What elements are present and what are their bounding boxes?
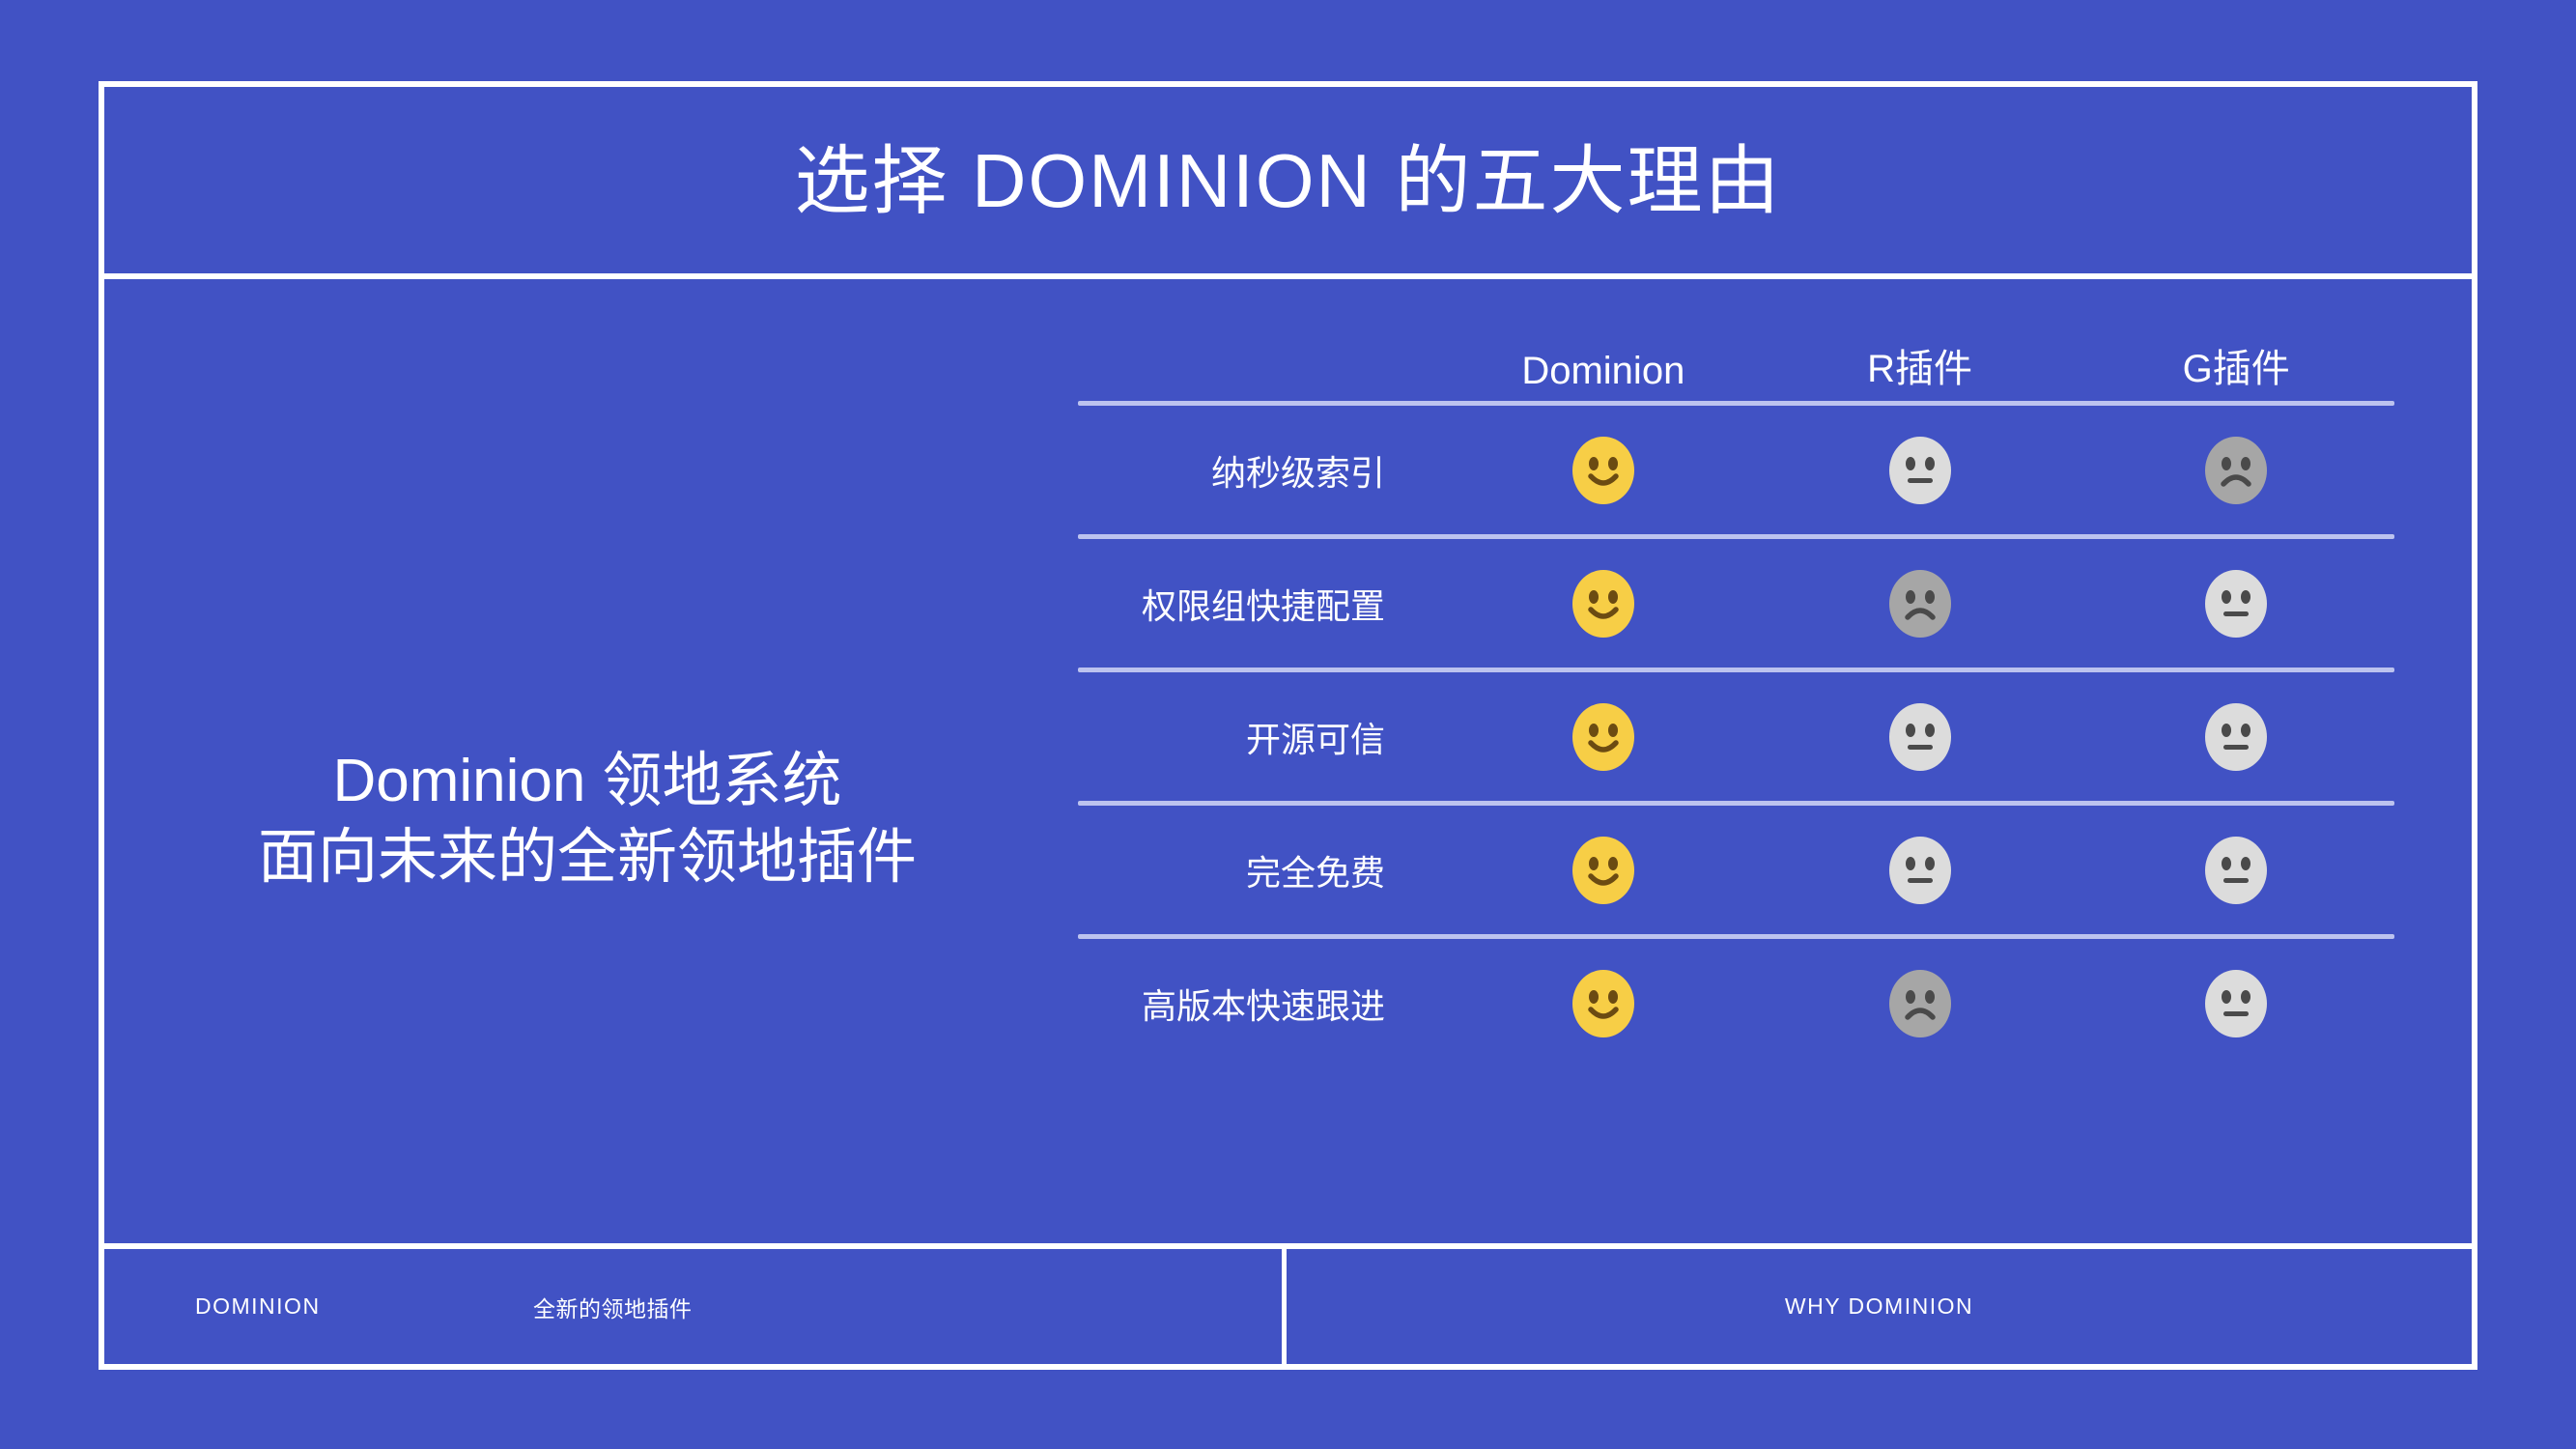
page-title: 选择 DOMINION 的五大理由 (795, 143, 1782, 218)
smiling-face-icon (1569, 569, 1638, 639)
smiling-face-icon (1569, 969, 1638, 1038)
left-headline-line-1: Dominion 领地系统 (104, 743, 1070, 819)
rating-cell (1445, 969, 1762, 1038)
smiling-face-icon (1569, 702, 1638, 772)
table-header-col-1: R插件 (1762, 337, 2079, 393)
row-label: 权限组快捷配置 (1078, 579, 1445, 629)
table-row: 完全免费 (1078, 806, 2394, 934)
left-headline-block: Dominion 领地系统 面向未来的全新领地插件 (104, 743, 1070, 896)
row-label: 完全免费 (1078, 845, 1445, 895)
frowning-face-icon (2201, 436, 2271, 505)
comparison-table: Dominion R插件 G插件 纳秒级索引权限组快捷配置开源可信完全免费高版本… (1078, 279, 2394, 1067)
footer-left-section: DOMINION 全新的领地插件 (104, 1249, 1287, 1364)
column-header-label: Dominion (1521, 350, 1684, 392)
smiling-face-icon (1569, 436, 1638, 505)
neutral-face-icon (2201, 969, 2271, 1038)
rating-cell (2078, 836, 2394, 905)
neutral-face-icon (2201, 836, 2271, 905)
footer-right-section: WHY DOMINION (1287, 1249, 2472, 1364)
table-row: 纳秒级索引 (1078, 406, 2394, 534)
table-header-col-0: Dominion (1445, 350, 1762, 393)
column-header-label: R插件 (1867, 348, 1972, 390)
table-body: 纳秒级索引权限组快捷配置开源可信完全免费高版本快速跟进 (1078, 406, 2394, 1067)
table-row: 高版本快速跟进 (1078, 939, 2394, 1067)
column-header-label: G插件 (2183, 348, 2290, 390)
rating-cell (2078, 436, 2394, 505)
rating-cell (2078, 569, 2394, 639)
footer-tagline: 全新的领地插件 (533, 1291, 693, 1323)
rating-cell (1762, 836, 2079, 905)
slide-header: 选择 DOMINION 的五大理由 (104, 87, 2472, 279)
footer-brand: DOMINION (195, 1293, 321, 1320)
row-label: 高版本快速跟进 (1078, 979, 1445, 1029)
slide-body: Dominion 领地系统 面向未来的全新领地插件 Dominion R插件 G… (104, 279, 2472, 1249)
rating-cell (1762, 969, 2079, 1038)
row-label: 纳秒级索引 (1078, 445, 1445, 496)
table-header-col-2: G插件 (2078, 337, 2394, 393)
frowning-face-icon (1885, 569, 1955, 639)
table-header-row: Dominion R插件 G插件 (1078, 279, 2394, 401)
slide: 选择 DOMINION 的五大理由 Dominion 领地系统 面向未来的全新领… (0, 0, 2576, 1449)
smiling-face-icon (1569, 836, 1638, 905)
slide-footer: DOMINION 全新的领地插件 WHY DOMINION (104, 1243, 2472, 1364)
frowning-face-icon (1885, 969, 1955, 1038)
rating-cell (1762, 702, 2079, 772)
table-row: 权限组快捷配置 (1078, 539, 2394, 668)
rating-cell (1445, 569, 1762, 639)
rating-cell (2078, 702, 2394, 772)
row-label: 开源可信 (1078, 712, 1445, 762)
neutral-face-icon (1885, 836, 1955, 905)
rating-cell (1445, 702, 1762, 772)
rating-cell (1445, 436, 1762, 505)
neutral-face-icon (1885, 702, 1955, 772)
rating-cell (1762, 436, 2079, 505)
slide-frame: 选择 DOMINION 的五大理由 Dominion 领地系统 面向未来的全新领… (99, 81, 2477, 1370)
left-headline-line-2: 面向未来的全新领地插件 (104, 819, 1070, 895)
rating-cell (1762, 569, 2079, 639)
rating-cell (2078, 969, 2394, 1038)
neutral-face-icon (2201, 569, 2271, 639)
table-row: 开源可信 (1078, 672, 2394, 801)
neutral-face-icon (2201, 702, 2271, 772)
neutral-face-icon (1885, 436, 1955, 505)
rating-cell (1445, 836, 1762, 905)
footer-section-label: WHY DOMINION (1785, 1293, 1973, 1320)
